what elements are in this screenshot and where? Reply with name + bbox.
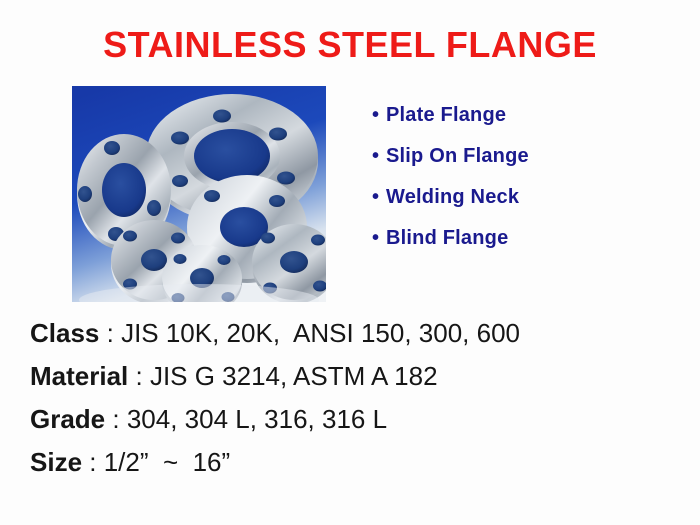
- spec-row-class: Class : JIS 10K, 20K, ANSI 150, 300, 600: [30, 312, 680, 355]
- bullet-icon: •: [372, 146, 386, 166]
- product-spec-card: STAINLESS STEEL FLANGE: [0, 0, 700, 525]
- spec-separator: :: [128, 361, 150, 391]
- list-item: • Slip On Flange: [372, 145, 662, 186]
- spec-value: JIS 10K, 20K, ANSI 150, 300, 600: [121, 318, 520, 348]
- list-item-label: Blind Flange: [386, 227, 508, 250]
- spec-separator: :: [82, 447, 104, 477]
- stainless-steel-flanges-photo: [72, 86, 326, 302]
- list-item-label: Welding Neck: [386, 186, 519, 209]
- page-title: STAINLESS STEEL FLANGE: [0, 24, 700, 66]
- list-item-label: Plate Flange: [386, 104, 506, 127]
- spec-separator: :: [99, 318, 121, 348]
- spec-label: Class: [30, 318, 99, 348]
- spec-separator: :: [105, 404, 127, 434]
- flange-type-list: • Plate Flange • Slip On Flange • Weldin…: [372, 104, 662, 268]
- spec-row-size: Size : 1/2” ~ 16”: [30, 441, 680, 484]
- spec-label: Material: [30, 361, 128, 391]
- spec-value: 1/2” ~ 16”: [104, 447, 230, 477]
- bullet-icon: •: [372, 228, 386, 248]
- list-item-label: Slip On Flange: [386, 145, 529, 168]
- spec-row-grade: Grade : 304, 304 L, 316, 316 L: [30, 398, 680, 441]
- list-item: • Welding Neck: [372, 186, 662, 227]
- spec-row-material: Material : JIS G 3214, ASTM A 182: [30, 355, 680, 398]
- specification-list: Class : JIS 10K, 20K, ANSI 150, 300, 600…: [30, 312, 680, 484]
- bullet-icon: •: [372, 105, 386, 125]
- bullet-icon: •: [372, 187, 386, 207]
- spec-value: JIS G 3214, ASTM A 182: [150, 361, 438, 391]
- list-item: • Blind Flange: [372, 227, 662, 268]
- spec-label: Size: [30, 447, 82, 477]
- list-item: • Plate Flange: [372, 104, 662, 145]
- spec-label: Grade: [30, 404, 105, 434]
- spec-value: 304, 304 L, 316, 316 L: [127, 404, 387, 434]
- flange-photo-graphic: [72, 86, 326, 302]
